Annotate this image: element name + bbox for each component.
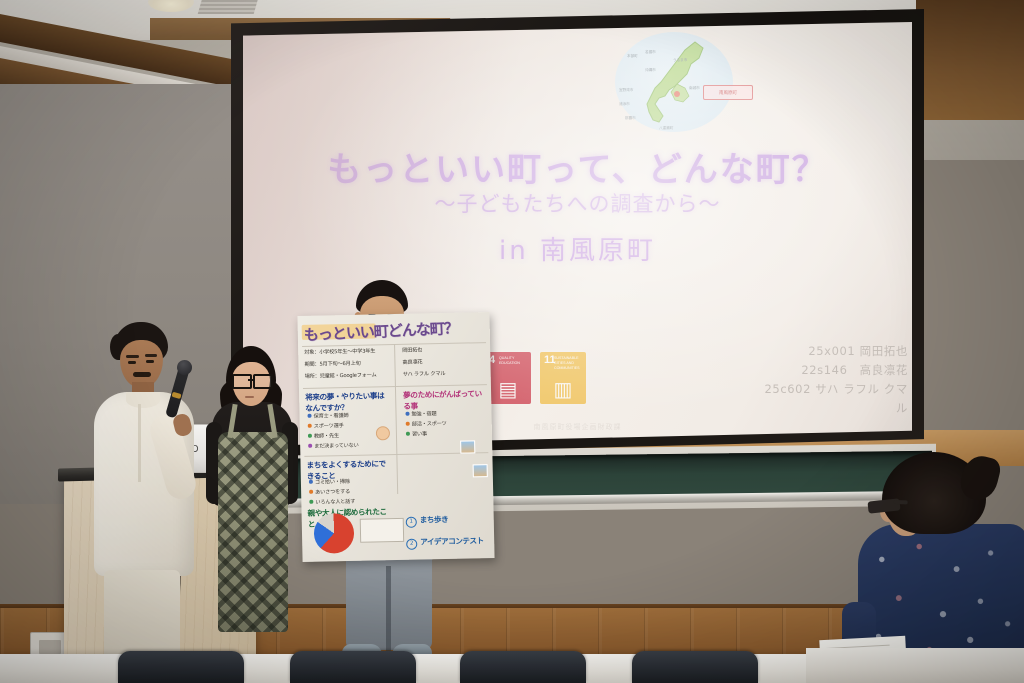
presenter-with-microphone bbox=[88, 322, 200, 662]
presentation-room-photo: もっといい町って、どんな町？ 〜子どもたちへの調査から〜 in 南風原町 4 Q… bbox=[0, 0, 1024, 683]
poster-item-text: スポーツ選手 bbox=[314, 423, 344, 430]
sdg-caption: QUALITY EDUCATION bbox=[499, 356, 528, 366]
poster-item-text: 習い事 bbox=[412, 431, 427, 437]
poster-photo bbox=[460, 440, 475, 453]
face bbox=[120, 340, 163, 388]
map-region-label: 名護市 bbox=[645, 50, 656, 55]
poster-meta-left-0: 対象：小学校5年生〜中学3年生 bbox=[304, 348, 390, 358]
map-region-label: 沖縄市 bbox=[645, 68, 656, 73]
right-wall-wood bbox=[916, 0, 1024, 120]
eye bbox=[146, 360, 154, 363]
poster-section-item: ゴミ拾い・掃除 bbox=[309, 478, 393, 488]
sdg-badges: 4 QUALITY EDUCATION ▤ 11 SUSTAINABLE CIT… bbox=[485, 352, 589, 408]
map-region-label: 宜野湾市 bbox=[619, 88, 633, 93]
poster-section-heading-1: 夢のためにがんばっている事 bbox=[403, 388, 487, 412]
poster-item-text: 保育士・看護師 bbox=[313, 413, 348, 420]
poster-section-item: あいさつをする bbox=[309, 488, 393, 498]
legs bbox=[104, 570, 180, 664]
sdg-caption: SUSTAINABLE CITIES AND COMMUNITIES bbox=[554, 356, 583, 371]
map-region-label: うるま市 bbox=[673, 58, 687, 63]
chair-back bbox=[460, 651, 586, 683]
eye bbox=[128, 361, 136, 364]
map-region-label: 浦添市 bbox=[619, 102, 630, 107]
slide-title: もっといい町って、どんな町？ bbox=[243, 142, 912, 191]
hair bbox=[882, 452, 986, 534]
proposal-number: 1 bbox=[406, 517, 417, 528]
poster-item-text: いろんな人と話す bbox=[315, 499, 355, 506]
handwritten-poster: もっといい町どんな町？ 対象：小学校5年生〜中学3年生 期間：5月下旬〜6月上旬… bbox=[297, 312, 494, 562]
collar bbox=[126, 392, 160, 408]
map-region-label: 八重瀬町 bbox=[659, 126, 673, 131]
poster-meta-left-1: 期間：5月下旬〜6月上旬 bbox=[304, 360, 390, 370]
slide-location: in 南風原町 bbox=[243, 230, 912, 267]
poster-title-wrap: もっといい町どんな町？ bbox=[304, 318, 484, 344]
eyebrow bbox=[145, 354, 157, 357]
author-line: 25x001 岡田拓也 bbox=[763, 342, 908, 361]
poster-proposal-item: 2アイデアコンテスト bbox=[406, 530, 490, 550]
poster-item-text: ゴミ拾い・掃除 bbox=[315, 479, 350, 486]
poster-item-text: 勉強・宿題 bbox=[411, 411, 436, 418]
poster-photo bbox=[473, 464, 488, 477]
poster-proposal-list: 1まち歩き 2アイデアコンテスト 3近年の祭り事情 bbox=[406, 508, 491, 562]
poster-section-item: 習い事 bbox=[406, 430, 488, 440]
poster-item-text: 教師・先生 bbox=[314, 433, 339, 440]
sdg-badge-4: 4 QUALITY EDUCATION ▤ bbox=[485, 352, 531, 404]
poster-section-item: まだ決まっていない bbox=[308, 442, 392, 452]
map-region-label: 那覇市 bbox=[625, 116, 636, 121]
chair-back bbox=[118, 651, 244, 683]
pants-gap bbox=[386, 566, 391, 652]
map-label-text: 南風原町 bbox=[704, 86, 752, 99]
poster-meta-left-2: 場所：児童館・Googleフォーム bbox=[305, 372, 391, 382]
presenter-at-lectern bbox=[204, 346, 300, 646]
foreground-table-right bbox=[806, 648, 1024, 683]
proposal-number: 2 bbox=[406, 539, 417, 550]
poster-section-heading-0: 将来の夢・やりたい事はなんですか？ bbox=[305, 390, 391, 414]
slide-authors: 25x001 岡田拓也 22s146 高良凛花 25c602 サハ ラフル クマ… bbox=[763, 342, 908, 418]
poster-section-item: 勉強・宿題 bbox=[405, 410, 487, 420]
poster-meta-right-1: 高良凛花 bbox=[402, 358, 486, 368]
poster-item-text: まだ決まっていない bbox=[314, 443, 359, 450]
sdg-badge-11: 11 SUSTAINABLE CITIES AND COMMUNITIES ▥ bbox=[540, 352, 586, 404]
poster-section-item: 部活・スポーツ bbox=[406, 420, 488, 430]
proposal-text: まち歩き bbox=[420, 515, 449, 525]
poster-pie-chart bbox=[314, 513, 355, 554]
map-region-label: 南城市 bbox=[689, 86, 700, 91]
poster-meta-right-2: サハ ラフル クマル bbox=[403, 370, 487, 380]
poster-item-text: あいさつをする bbox=[315, 489, 350, 496]
slide-subtitle: 〜子どもたちへの調査から〜 bbox=[243, 188, 912, 218]
proposal-text: アイデアコンテスト bbox=[420, 536, 484, 546]
map-region-label: 本部町 bbox=[627, 54, 638, 59]
poster-legend-box bbox=[360, 518, 404, 543]
shirt-placket bbox=[138, 404, 141, 482]
mouth bbox=[245, 396, 254, 398]
author-line: 22s146 高良凛花 bbox=[763, 361, 908, 380]
poster-title: もっといい町どんな町？ bbox=[303, 316, 484, 346]
eyebrow bbox=[126, 355, 139, 358]
book-icon: ▤ bbox=[485, 380, 531, 400]
poster-meta-right-0: 岡田拓也 bbox=[402, 346, 486, 356]
chair-back bbox=[290, 651, 416, 683]
buildings-icon: ▥ bbox=[540, 380, 586, 400]
poster-proposal-item: 1まち歩き bbox=[406, 508, 490, 528]
plaid-pinafore-dress bbox=[218, 432, 288, 632]
chair-back bbox=[632, 651, 758, 683]
author-line: 25c602 サハ ラフル クマル bbox=[763, 380, 908, 418]
moustache bbox=[133, 372, 151, 377]
air-vent-icon bbox=[198, 0, 259, 14]
ceiling-light-icon bbox=[148, 0, 194, 12]
eyeglasses-icon bbox=[232, 374, 270, 386]
map-highlight-label: 南風原町 bbox=[703, 85, 753, 100]
poster-item-text: 部活・スポーツ bbox=[412, 421, 447, 428]
poster-section-item: 保育士・看護師 bbox=[307, 412, 391, 422]
okinawa-map: 南風原町 本部町 名護市 沖縄市 うるま市 宜野湾市 浦添市 那覇市 南城市 八… bbox=[615, 32, 765, 136]
